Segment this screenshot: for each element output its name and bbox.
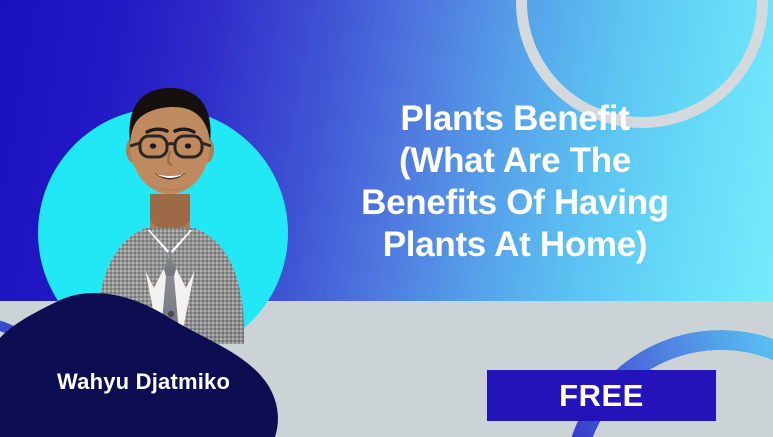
blob-shape-icon-name-container xyxy=(0,265,360,437)
title-line-1: Plants Benefit xyxy=(290,98,740,140)
course-thumbnail-banner: Wahyu Djatmiko Plants Benefit (What Are … xyxy=(0,0,773,437)
presenter-name: Wahyu Djatmiko xyxy=(57,371,230,393)
title-line-3: Benefits Of Having xyxy=(290,182,740,224)
page-title: Plants Benefit (What Are The Benefits Of… xyxy=(290,98,740,266)
title-line-4: Plants At Home) xyxy=(290,224,740,266)
free-badge-label: FREE xyxy=(487,370,716,421)
title-line-2: (What Are The xyxy=(290,140,740,182)
